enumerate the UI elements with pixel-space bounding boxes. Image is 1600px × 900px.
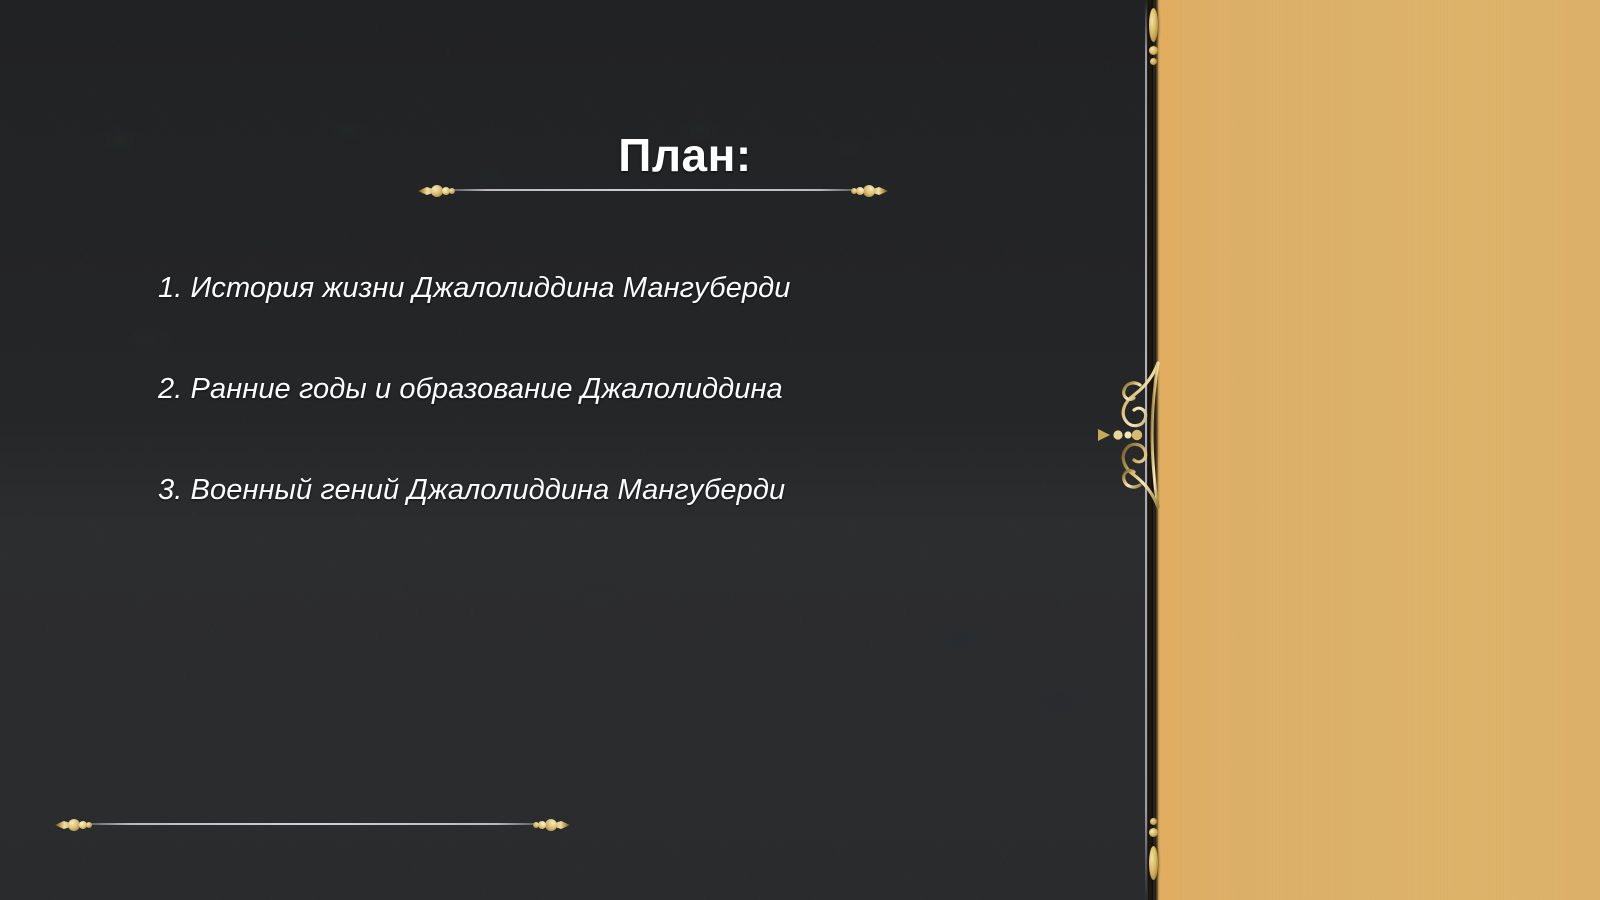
- divider-ornament-left: [55, 816, 95, 832]
- bottom-divider: [55, 814, 570, 834]
- border-bead-bottom: [1145, 812, 1161, 896]
- list-item: 3. Военный гений Джалолиддина Мангуберди: [158, 474, 1058, 507]
- page-title: План:: [420, 128, 950, 182]
- list-item: 2. Ранние годы и образование Джалолиддин…: [158, 373, 1058, 406]
- plan-list: 1. История жизни Джалолиддина Мангуберди…: [158, 272, 1058, 575]
- border-line-silver: [1145, 0, 1147, 900]
- divider-ornament-right: [848, 182, 888, 198]
- divider-ornament-right: [530, 816, 570, 832]
- border-line-gold-edge: [1158, 0, 1160, 900]
- gold-panel-grain: [1160, 0, 1600, 900]
- divider-ornament-left: [418, 182, 458, 198]
- slide-panel-gold: [1160, 0, 1600, 900]
- border-bead-top: [1145, 8, 1161, 88]
- list-item: 1. История жизни Джалолиддина Мангуберди: [158, 272, 1058, 305]
- title-divider: [418, 180, 888, 200]
- presentation-slide: План: 1. История жизни Джалолиддина Манг…: [0, 0, 1600, 900]
